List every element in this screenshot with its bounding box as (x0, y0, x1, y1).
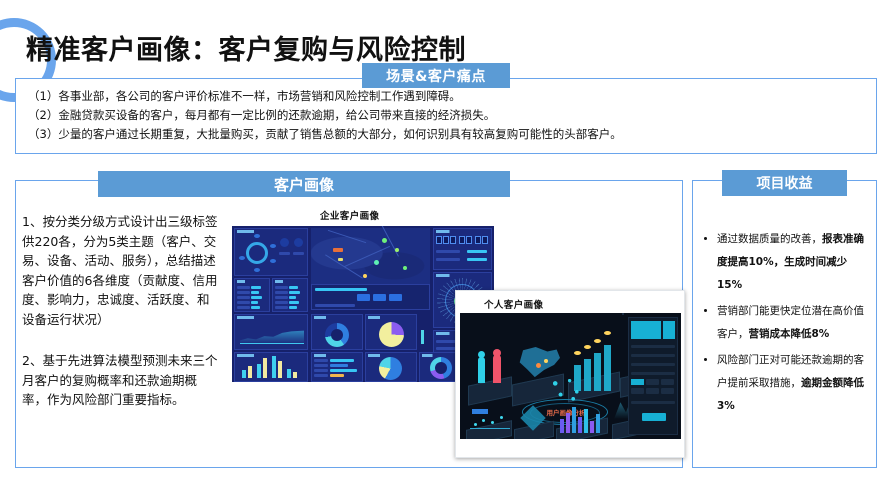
project-benefit-tag: 项目收益 (722, 170, 847, 196)
portrait-desc-1: 1、按分类分级方式设计出三级标签供220各，分为5类主题（客户、交易、设备、活动… (22, 212, 218, 329)
benefit-1-prefix: 通过数据质量的改善， (717, 233, 822, 245)
personal-dashboard-label: 个人客户画像 (484, 297, 543, 311)
benefit-item-1: 通过数据质量的改善，报表准确度提高10%，生成时间减少15% (717, 228, 872, 297)
benefit-item-2: 营销部门能更快定位潜在高价值客户，营销成本降低8% (717, 300, 872, 346)
pain-points-box: （1）各事业部，各公司的客户评价标准不一样，市场营销和风险控制工作遇到障碍。 （… (15, 78, 877, 154)
personal-portrait-card: 个人客户画像 (455, 290, 685, 458)
pain-point-3: （3）少量的客户通过长期重复，大批量购买，贡献了销售总额的大部分，如何识别具有较… (28, 125, 876, 144)
pain-point-1: （1）各事业部，各公司的客户评价标准不一样，市场营销和风险控制工作遇到障碍。 (28, 87, 876, 106)
benefit-2-bold: 营销成本降低8% (749, 328, 830, 340)
customer-portrait-tag: 客户画像 (98, 171, 510, 197)
portrait-description: 1、按分类分级方式设计出三级标签供220各，分为5类主题（客户、交易、设备、活动… (22, 212, 218, 410)
enterprise-dashboard-label: 企业客户画像 (320, 208, 379, 222)
benefits-list: 通过数据质量的改善，报表准确度提高10%，生成时间减少15% 营销部门能更快定位… (700, 228, 872, 421)
scene-pain-tag: 场景&客户痛点 (362, 63, 510, 88)
personal-dashboard-image: 用户画像分析 (460, 313, 681, 439)
slide-root: 精准客户画像：客户复购与风险控制 场景&客户痛点 （1）各事业部，各公司的客户评… (0, 0, 889, 500)
pain-point-2: （2）金融贷款买设备的客户，每月都有一定比例的还款逾期，给公司带来直接的经济损失… (28, 106, 876, 125)
page-title: 精准客户画像：客户复购与风险控制 (26, 28, 466, 67)
benefit-item-3: 风险部门正对可能还款逾期的客户提前采取措施，逾期金额降低3% (717, 349, 872, 418)
pain-points-list: （1）各事业部，各公司的客户评价标准不一样，市场营销和风险控制工作遇到障碍。 （… (16, 79, 876, 144)
portrait-desc-2: 2、基于先进算法模型预测未来三个月客户的复购概率和还款逾期概率，作为风险部门重要… (22, 351, 218, 410)
